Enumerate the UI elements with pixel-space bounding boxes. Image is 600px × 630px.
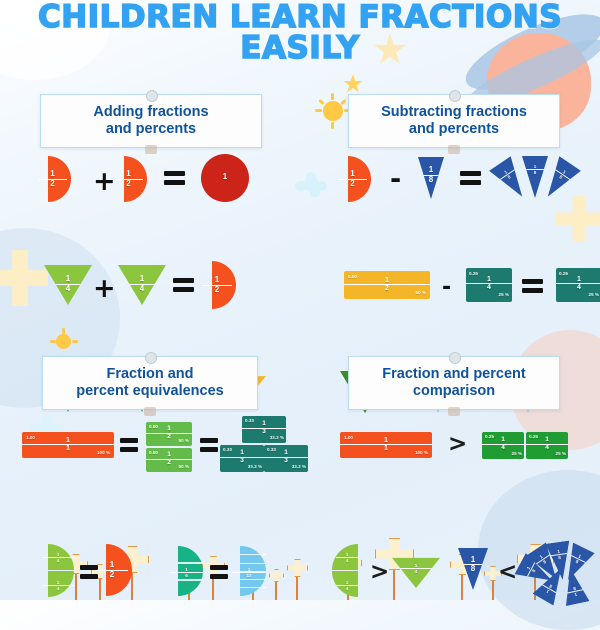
denominator: 4	[556, 283, 600, 291]
fraction-label: 1 12	[232, 567, 266, 578]
fraction-bar: 0.25 1 4 25 %	[482, 432, 524, 459]
star-icon	[343, 74, 363, 94]
fraction-shape-quarter: 1 4	[332, 544, 358, 570]
fraction-label: 1 4	[336, 580, 358, 591]
fraction-label: 1 4	[526, 437, 568, 451]
numerator: 1	[96, 561, 128, 570]
numerator: 1	[556, 276, 600, 283]
fraction-bar: 0.50 1 2 50 %	[146, 422, 192, 446]
fraction-label: 1 2	[202, 276, 232, 294]
panel-subtracting-title-line2: and percents	[355, 121, 553, 138]
fraction-shape-half: 1 2	[48, 156, 71, 202]
comparison-operator: >	[370, 561, 389, 584]
fraction-label: 1 2	[114, 170, 143, 188]
fraction-label: 1 6	[170, 567, 203, 578]
fraction-bar: 1.00 1 1 100 %	[340, 432, 432, 458]
fraction-shape-wedge: 1 4	[392, 556, 440, 588]
fraction-shape-quarter: 1 4	[48, 544, 74, 570]
page-title-line2: EASILY	[0, 33, 600, 64]
fraction-label: 1 4	[42, 552, 74, 563]
percent-label: 100 %	[396, 450, 428, 455]
fraction-shape-half-quarters: 1 4 1 4	[332, 544, 358, 596]
fraction-label: 1 4	[466, 276, 512, 291]
operator-minus: -	[442, 277, 451, 299]
fraction-bar: 0.25 1 4 25 %	[466, 268, 512, 302]
panel-equivalences-title-line1: Fraction and	[49, 366, 251, 383]
equals-sign	[522, 279, 543, 293]
panel-adding-title-line2: and percents	[47, 121, 255, 138]
operator-minus: -	[390, 166, 401, 193]
denominator: 4	[526, 444, 568, 452]
denominator: 2	[96, 570, 128, 580]
percent-label: 33.3 %	[256, 435, 284, 440]
numerator: 1	[458, 556, 488, 564]
fraction-shape-half: 1 2	[106, 544, 132, 596]
fraction-shape-quarter: 1 4	[332, 571, 358, 597]
comparison-row: 1 4 1 4 > 1 4 1 8 <	[324, 540, 600, 606]
fraction-label: 1 8	[549, 163, 577, 187]
fraction-label: 1 8	[494, 163, 522, 187]
fraction-label: 1 2	[338, 170, 367, 188]
fraction-label: 1 4	[556, 276, 600, 291]
pin-icon	[449, 352, 461, 364]
percent-label: 100 %	[78, 450, 110, 455]
panel-comparison-title-line2: comparison	[355, 383, 553, 400]
equals-sign	[210, 565, 228, 579]
fraction-shape-whole: 1	[201, 154, 249, 202]
fraction-shape-half: 1 2	[124, 156, 147, 202]
numerator: 1	[202, 276, 232, 285]
denominator: 8	[418, 175, 444, 185]
denominator: 3	[264, 457, 308, 465]
percent-label: 25 %	[573, 292, 599, 297]
numerator: 1	[114, 170, 143, 179]
percent-label: 25 %	[540, 451, 566, 456]
fraction-shape-half-twelfths: 1 12	[240, 546, 266, 596]
fraction-bar: 1.00 1 1 100 %	[22, 432, 114, 458]
fraction-label: 1 4	[336, 552, 358, 563]
equation-row: 1 2 + 1 2 1	[36, 152, 276, 204]
fraction-label: 1 4	[482, 437, 524, 451]
panel-adding-title-line1: Adding fractions	[47, 104, 255, 121]
denominator: 2	[338, 179, 367, 189]
numerator: 1	[418, 166, 444, 175]
fraction-shape-half-sixths: 1 6	[178, 546, 203, 596]
panel-comparison-title-line1: Fraction and percent	[355, 366, 553, 383]
sun-icon	[52, 330, 76, 354]
fraction-label: 1 2	[96, 561, 128, 579]
fraction-bar: 0.50 1 2 50 %	[344, 271, 430, 299]
panel-adding-body: 1 2 + 1 2 1 1 4 + 1 4	[36, 152, 276, 324]
comparison-operator: <	[498, 561, 517, 584]
numerator: 1	[22, 437, 114, 444]
fraction-label: 1 8	[418, 166, 444, 184]
fraction-bar: 0.33 1 3 33.3 %	[242, 416, 286, 443]
panel-subtracting: Subtracting fractions and percents	[348, 94, 560, 148]
denominator: 4	[336, 557, 358, 563]
fraction-bar: 0.33 1 3 33.3 %	[264, 445, 308, 472]
denominator: 4	[336, 585, 358, 591]
fraction-label: 1 8	[522, 164, 548, 175]
fraction-bar: 0.50 1 2 50 %	[146, 448, 192, 472]
fraction-shape-wedge: 1 4	[118, 265, 166, 305]
percent-label: 33.3 %	[278, 464, 306, 469]
fraction-label: 1 3	[220, 450, 264, 464]
fraction-shape-wedge: 1 8	[522, 156, 548, 198]
panel-equivalences: Fraction and percent equivalences	[42, 356, 258, 410]
percent-label: 50 %	[396, 290, 426, 295]
fraction-shape-wedge: 1 8	[418, 157, 444, 199]
percent-label: 50 %	[163, 438, 189, 443]
numerator: 1	[338, 170, 367, 179]
denominator: 2	[114, 179, 143, 189]
fraction-bar: 0.33 1 3 33.3 %	[220, 445, 264, 472]
denominator: 4	[392, 568, 440, 574]
numerator: 1	[38, 170, 67, 179]
numerator: 1	[392, 563, 440, 568]
denominator: 8	[522, 169, 548, 175]
denominator: 6	[170, 572, 203, 578]
numerator: 1	[118, 275, 166, 284]
fraction-label: 1 8	[565, 549, 591, 569]
operator-plus: +	[93, 275, 116, 302]
fraction-bar: 0.25 1 4 25 %	[556, 268, 600, 302]
sun-icon	[318, 96, 348, 126]
fraction-shape-half: 1 2	[212, 261, 236, 309]
denominator: 8	[458, 564, 488, 573]
denominator: 4	[482, 444, 524, 452]
numerator: 1	[344, 277, 430, 284]
equation-row: 1 2 - 1 8 1 8 1 8	[330, 152, 590, 204]
fraction-label: 1 8	[458, 556, 488, 573]
percent-label: 33.3 %	[234, 464, 262, 469]
pin-icon	[449, 90, 461, 102]
pin-icon	[146, 90, 158, 102]
page-title-line1: CHILDREN LEARN FRACTIONS	[0, 2, 600, 33]
denominator: 4	[42, 557, 74, 563]
equals-sign	[164, 171, 185, 185]
percent-label: 25 %	[496, 451, 522, 456]
denominator: 12	[232, 572, 266, 578]
fraction-shape-half-quarters: 1 4 1 4	[48, 544, 74, 596]
fraction-shape-wedge: 1 8	[458, 548, 488, 590]
cloud-icon	[303, 177, 319, 191]
equals-sign	[200, 438, 218, 452]
fraction-label: 1 3	[242, 421, 286, 435]
panel-adding-header: Adding fractions and percents	[40, 94, 262, 148]
panel-subtracting-body: 1 2 - 1 8 1 8 1 8	[330, 152, 590, 324]
denominator: 3	[220, 457, 264, 465]
fraction-shape-wedge-fan: 1 8 1 8 1 8	[498, 154, 572, 202]
equivalence-row: 1 4 1 4 1 2 1 6	[14, 540, 306, 602]
panel-adding: Adding fractions and percents	[40, 94, 262, 148]
equals-sign	[173, 278, 194, 292]
fraction-shape-wedge: 1 4	[44, 265, 92, 305]
fraction-shape-quarter: 1 4	[48, 571, 74, 597]
panel-subtracting-header: Subtracting fractions and percents	[348, 94, 560, 148]
panel-equivalences-body: 1.00 1 1 100 % 0.50 1 2 50 % 0.50 1 2	[14, 414, 306, 550]
operator-plus: +	[93, 168, 116, 195]
fraction-label: 1 8	[536, 578, 562, 600]
fraction-label: 1	[201, 173, 249, 182]
percent-label: 50 %	[163, 464, 189, 469]
panel-comparison-header: Fraction and percent comparison	[348, 356, 560, 410]
equals-sign	[460, 171, 481, 185]
percent-label: 25 %	[483, 292, 509, 297]
panel-equivalences-title-line2: percent equivalences	[49, 383, 251, 400]
page-title: CHILDREN LEARN FRACTIONS EASILY	[0, 2, 600, 64]
panel-comparison: Fraction and percent comparison	[348, 356, 560, 410]
equals-sign	[120, 438, 138, 452]
denominator: 4	[466, 283, 512, 291]
numerator: 1	[44, 275, 92, 284]
panel-comparison-body: 1.00 1 1 100 % > 0.25 1 4 25 % 0.25 1	[324, 414, 600, 550]
fraction-shape-half: 1 2	[348, 156, 371, 202]
fraction-label: 1 8	[562, 584, 588, 600]
comparison-operator: >	[448, 433, 467, 456]
denominator: 4	[42, 585, 74, 591]
denominator: 4	[118, 284, 166, 294]
fraction-bar: 0.25 1 4 25 %	[526, 432, 568, 459]
equation-row: 0.50 1 2 50 % - 0.25 1 4 25 % 0.25 1 4 2…	[330, 261, 590, 313]
fraction-label: 1 4	[118, 275, 166, 293]
fraction-shape-wedge-fan: 1 8 1 8 1 8 1 8	[520, 540, 600, 604]
numerator: 1	[564, 589, 589, 599]
fraction-label: 1 4	[44, 275, 92, 293]
panel-subtracting-title-line1: Subtracting fractions	[355, 104, 553, 121]
panel-equivalences-header: Fraction and percent equivalences	[42, 356, 258, 410]
equivalence-row: 1.00 1 1 100 % 0.50 1 2 50 % 0.50 1 2	[14, 414, 306, 476]
fraction-label: 1 2	[38, 170, 67, 188]
denominator: 3	[242, 428, 286, 436]
fraction-bar-stack: 0.33 1 3 33.3 % 0.33 1 3 33.3 % 0.33 1	[224, 416, 304, 474]
fraction-label: 1 3	[264, 450, 308, 464]
fraction-label: 1 4	[392, 563, 440, 574]
numerator: 1	[466, 276, 512, 283]
fraction-label: 1 4	[42, 580, 74, 591]
denominator: 2	[38, 179, 67, 189]
fraction-bar-stack: 0.50 1 2 50 % 0.50 1 2 50 %	[146, 422, 192, 472]
comparison-row: 1.00 1 1 100 % > 0.25 1 4 25 % 0.25 1	[324, 414, 600, 476]
equation-row: 1 4 + 1 4 1 2	[36, 259, 276, 311]
pin-icon	[145, 352, 157, 364]
denominator: 4	[44, 284, 92, 294]
numerator: 1	[340, 437, 432, 444]
denominator: 2	[202, 285, 232, 295]
